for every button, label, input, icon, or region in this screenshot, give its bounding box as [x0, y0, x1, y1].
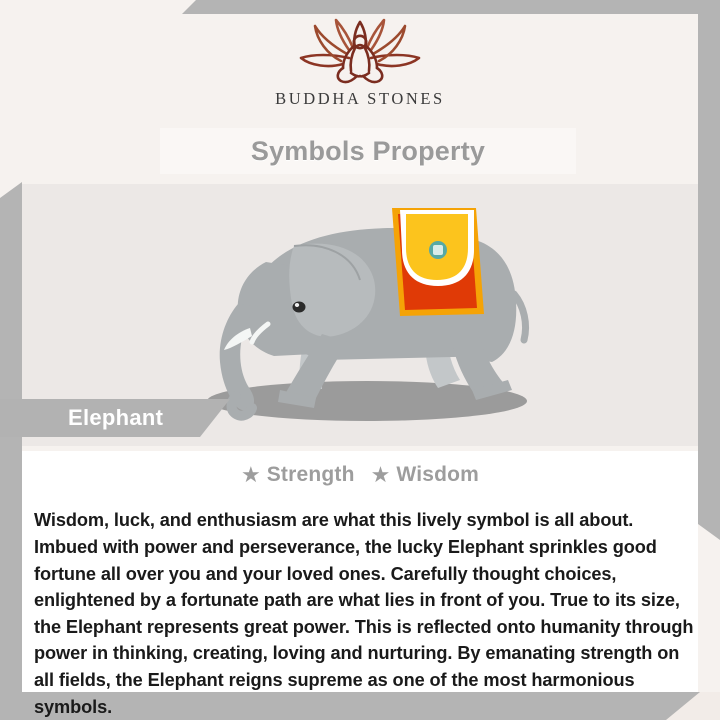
symbol-description: Wisdom, luck, and enthusiasm are what th… [34, 507, 694, 720]
brand-name: BUDDHA STONES [275, 89, 445, 109]
symbol-label-banner: Elephant [0, 399, 230, 437]
frame-top-accent [0, 0, 720, 14]
description-panel: ★ Strength ★ Wisdom Wisdom, luck, and en… [22, 451, 698, 692]
elephant-eye [293, 302, 306, 313]
virtue-label: Strength [267, 463, 355, 487]
virtue-strength: ★ Strength [241, 463, 355, 487]
frame-left-accent [0, 182, 22, 694]
virtues-row: ★ Strength ★ Wisdom [22, 463, 698, 487]
page-title: Symbols Property [251, 136, 485, 167]
page-title-band: Symbols Property [160, 128, 576, 174]
lotus-meditation-icon [287, 14, 433, 86]
brand-logo: BUDDHA STONES [0, 14, 720, 126]
page-root: BUDDHA STONES Symbols Property [0, 0, 720, 720]
star-icon: ★ [371, 464, 391, 486]
virtue-wisdom: ★ Wisdom [371, 463, 479, 487]
symbol-label: Elephant [68, 405, 163, 431]
star-icon: ★ [241, 464, 261, 486]
elephant-saddle [392, 208, 484, 316]
virtue-label: Wisdom [396, 463, 479, 487]
